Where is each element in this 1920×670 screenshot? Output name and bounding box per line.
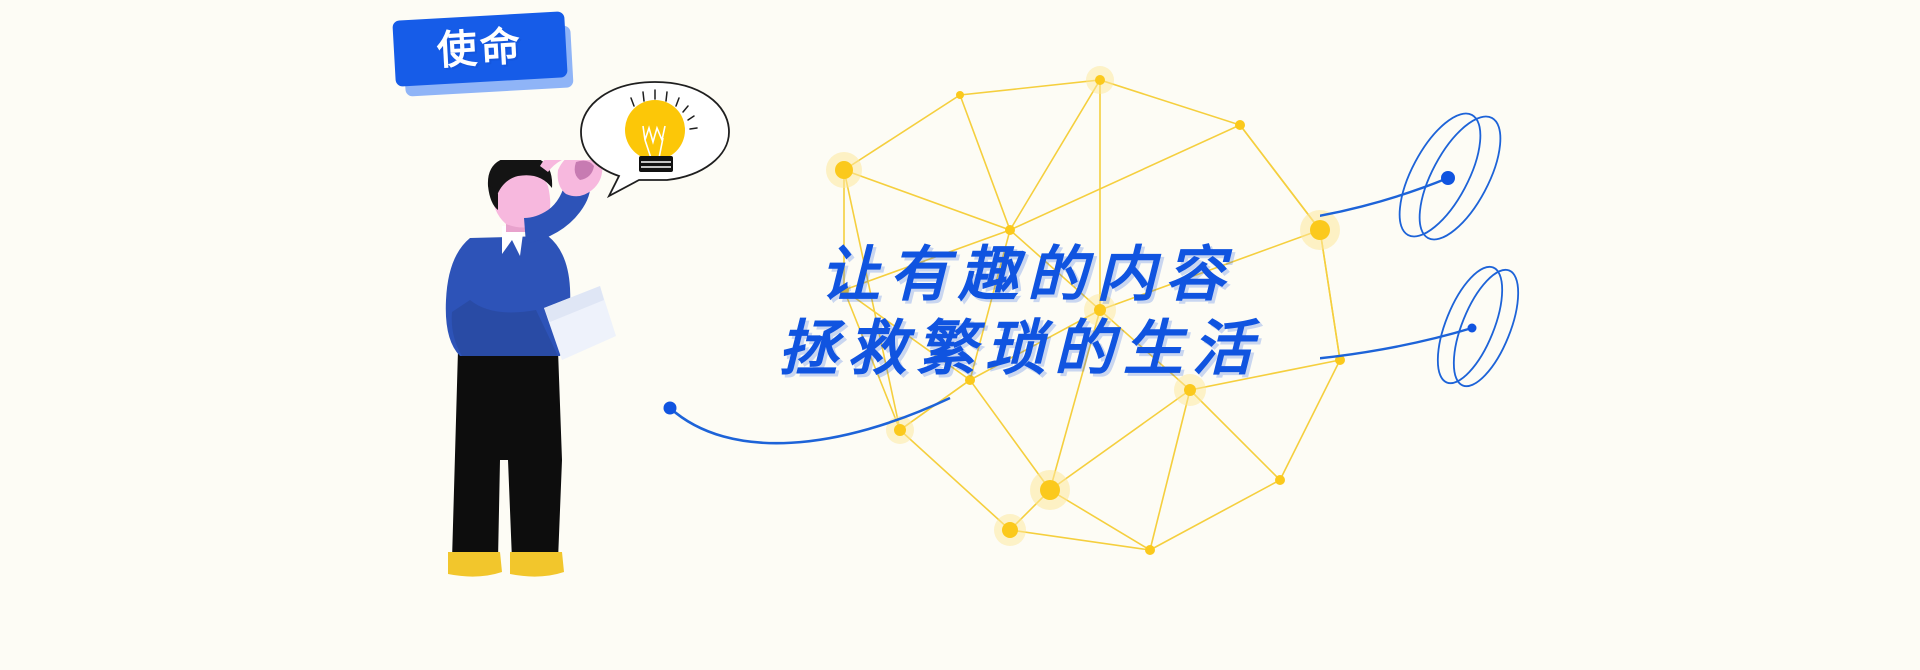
banner-root: 使命 让有趣的内容 拯救繁琐的生活 <box>0 0 1920 670</box>
ring-connector-bottom <box>1320 328 1472 363</box>
orbit-rings-svg <box>1320 100 1650 400</box>
person-pants <box>452 350 562 560</box>
headline-line-1: 让有趣的内容 <box>820 238 1261 312</box>
idea-bubble <box>575 78 735 203</box>
swoosh-dot <box>664 402 677 415</box>
ring-group-bottom <box>1425 259 1532 395</box>
ring-dot-top <box>1441 171 1455 185</box>
person-svg <box>440 160 660 580</box>
idea-bubble-svg <box>575 78 735 198</box>
person-shoe-left <box>448 552 502 577</box>
bulb-base <box>639 156 673 172</box>
mission-badge[interactable]: 使命 <box>390 8 580 100</box>
orbit-rings <box>1320 100 1650 405</box>
ring-dot-bottom <box>1468 324 1477 333</box>
lightbulb-icon <box>625 100 685 160</box>
badge-front-layer[interactable]: 使命 <box>392 11 567 86</box>
headline: 让有趣的内容 拯救繁琐的生活 <box>820 238 1261 386</box>
ring-connector-top <box>1320 178 1448 226</box>
left-swoosh <box>660 380 960 470</box>
badge-label: 使命 <box>436 27 524 72</box>
person-shoe-right <box>510 552 564 577</box>
headline-line-2: 拯救繁琐的生活 <box>778 312 1261 386</box>
pointing-person <box>440 160 660 585</box>
